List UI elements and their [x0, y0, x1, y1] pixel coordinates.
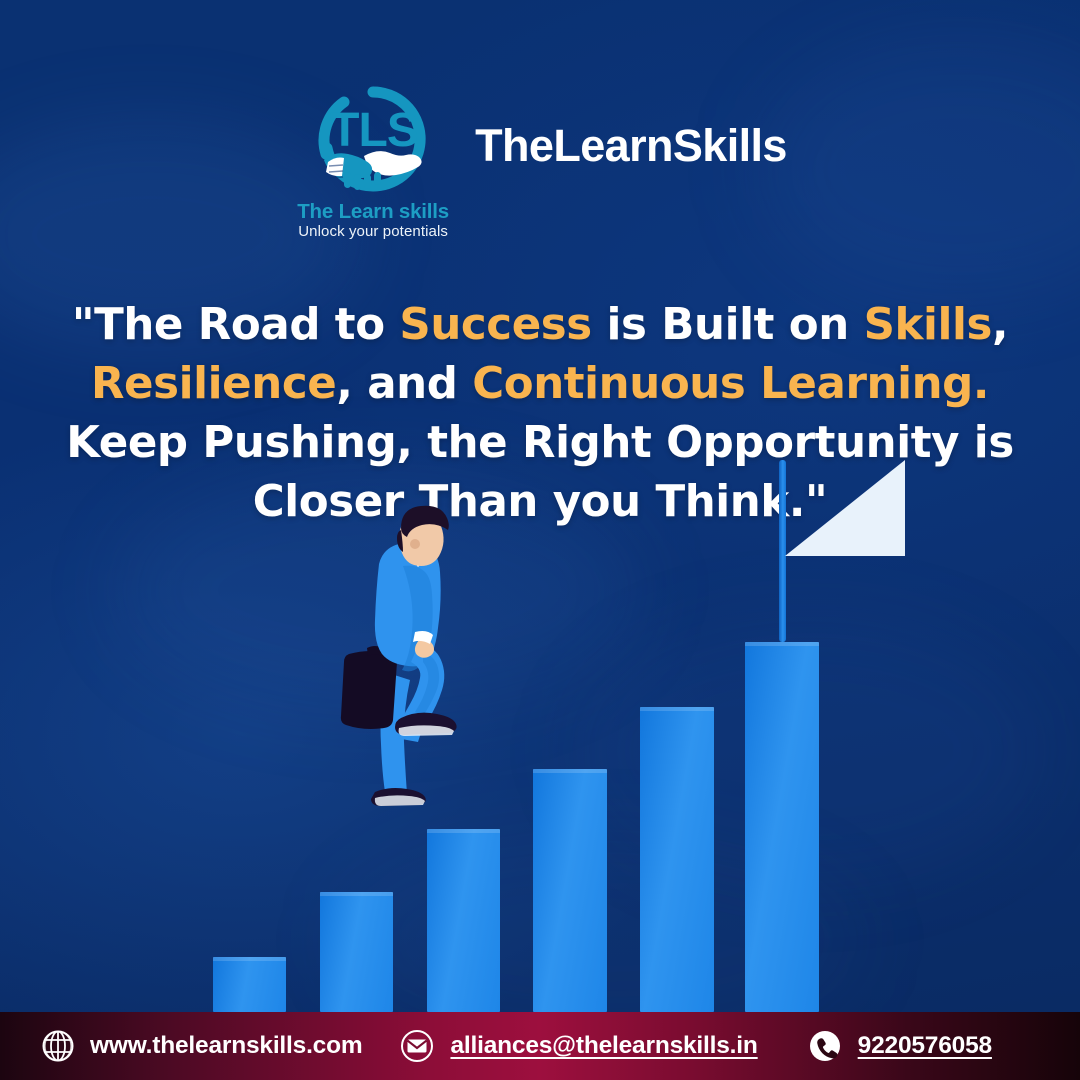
logo-tagline-primary: The Learn skills: [293, 200, 453, 224]
chart-bar-2: [320, 892, 393, 1012]
logo-block: TLS: [293, 84, 453, 244]
tls-circle-handshake-logo: TLS: [298, 84, 448, 206]
envelope-icon: [398, 1027, 436, 1065]
white-triangle-flag: [785, 460, 905, 556]
globe-icon: [40, 1028, 76, 1064]
quote-highlight-word: Continuous Learning.: [472, 359, 989, 409]
quote-plain-text: ,: [992, 300, 1008, 350]
businessman-with-briefcase: [327, 504, 507, 834]
email-label[interactable]: alliances@thelearnskills.in: [450, 1032, 757, 1060]
illustration-scene: [0, 452, 1080, 1012]
chart-bar-6: [745, 642, 819, 1012]
chart-bar-3: [427, 829, 500, 1012]
brand-name: TheLearnSkills: [475, 120, 787, 172]
chart-bar-1: [213, 957, 286, 1012]
chart-bar-5: [640, 707, 714, 1012]
logo-tagline-secondary: Unlock your potentials: [293, 223, 453, 240]
phone-icon: [806, 1027, 844, 1065]
quote-highlight-word: Skills: [864, 300, 992, 350]
quote-plain-text: is Built on: [592, 300, 864, 350]
website-label[interactable]: www.thelearnskills.com: [90, 1032, 362, 1060]
phone-label[interactable]: 9220576058: [858, 1032, 992, 1060]
svg-text:TLS: TLS: [330, 104, 418, 157]
brand-header: TLS: [0, 84, 1080, 244]
quote-highlight-word: Resilience: [91, 359, 336, 409]
footer-email-item[interactable]: alliances@thelearnskills.in: [398, 1027, 757, 1065]
quote-highlight-word: Success: [399, 300, 591, 350]
quote-plain-text: , and: [336, 359, 472, 409]
contact-footer: www.thelearnskills.com alliances@thelear…: [0, 1012, 1080, 1080]
chart-bar-4: [533, 769, 607, 1012]
quote-plain-text: "The Road to: [72, 300, 400, 350]
footer-website-item[interactable]: www.thelearnskills.com: [40, 1028, 362, 1064]
footer-phone-item[interactable]: 9220576058: [806, 1027, 992, 1065]
poster-canvas: TLS: [0, 0, 1080, 1080]
